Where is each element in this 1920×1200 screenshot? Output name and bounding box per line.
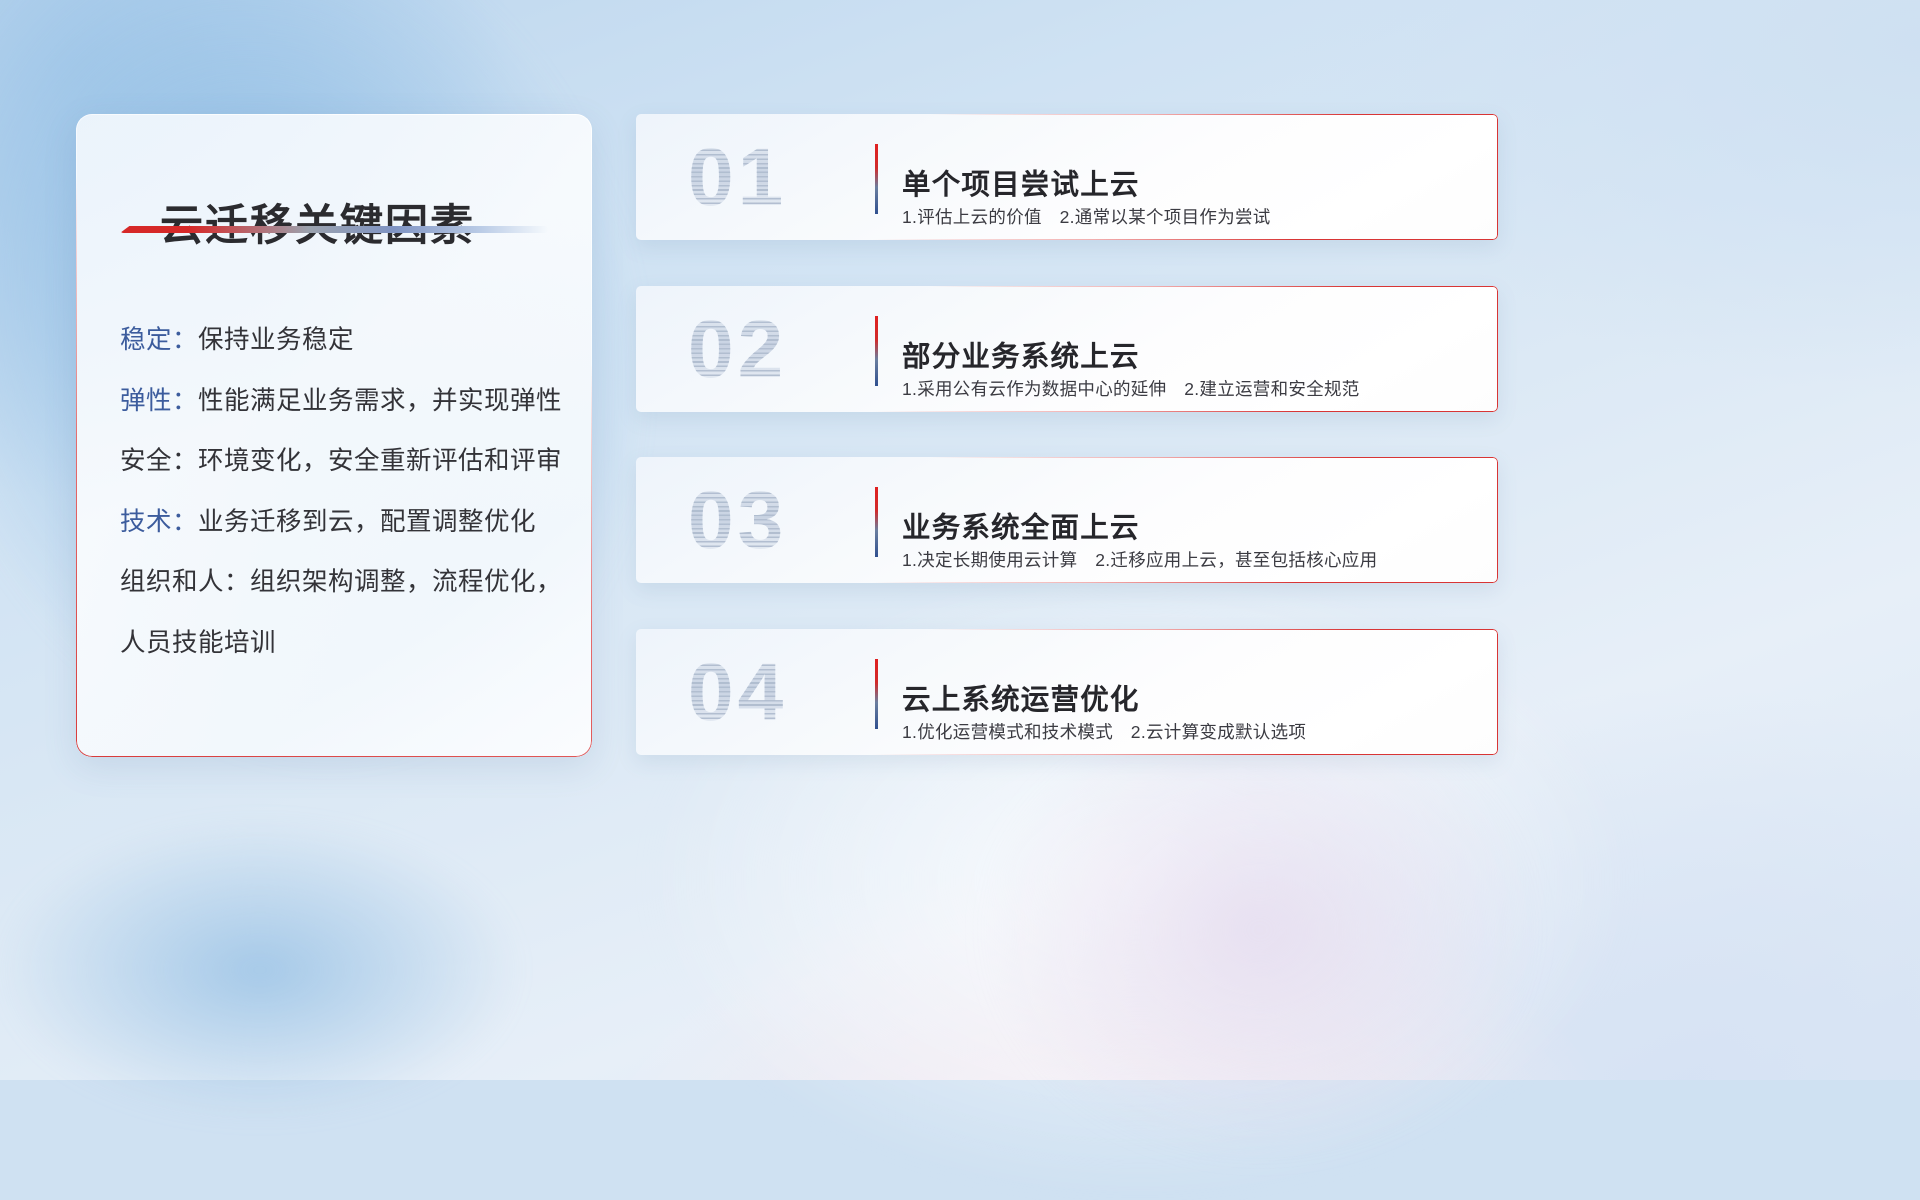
stage-card[interactable]: 01 单个项目尝试上云 1.评估上云的价值 2.通常以某个项目作为尝试 — [636, 114, 1498, 240]
list-item: 技术：业务迁移到云，配置调整优化 — [120, 492, 566, 553]
stage-card[interactable]: 04 云上系统运营优化 1.优化运营模式和技术模式 2.云计算变成默认选项 — [636, 629, 1498, 755]
card-accent-bar — [875, 144, 878, 214]
key-factors-panel: 云迁移关键因素 稳定：保持业务稳定 弹性：性能满足业务需求，并实现弹性 安全：环… — [76, 114, 592, 757]
list-item-text: 保持业务稳定 — [198, 326, 354, 354]
stage-card[interactable]: 02 部分业务系统上云 1.采用公有云作为数据中心的延伸 2.建立运营和安全规范 — [636, 286, 1498, 412]
list-item: 人员技能培训 — [120, 613, 566, 674]
stage-number: 03 — [688, 475, 848, 567]
list-item-label: 安全： — [120, 447, 198, 475]
key-factors-list: 稳定：保持业务稳定 弹性：性能满足业务需求，并实现弹性 安全：环境变化，安全重新… — [120, 310, 566, 673]
stage-number: 01 — [688, 132, 848, 224]
list-item-text: 环境变化，安全重新评估和评审 — [198, 447, 562, 475]
list-item: 安全：环境变化，安全重新评估和评审 — [120, 431, 566, 492]
list-item: 稳定：保持业务稳定 — [120, 310, 566, 371]
list-item-text: 组织架构调整，流程优化， — [250, 568, 562, 596]
stage-title: 部分业务系统上云 — [902, 334, 1140, 375]
title-underline-gradient — [120, 226, 548, 233]
stage-title: 云上系统运营优化 — [902, 677, 1140, 718]
list-item-label: 弹性： — [120, 387, 198, 415]
list-item-text: 业务迁移到云，配置调整优化 — [198, 508, 536, 536]
card-accent-bar — [875, 659, 878, 729]
stage-subtitle: 1.优化运营模式和技术模式 2.云计算变成默认选项 — [902, 719, 1306, 744]
stage-subtitle: 1.评估上云的价值 2.通常以某个项目作为尝试 — [902, 204, 1271, 229]
stage-number: 02 — [688, 304, 848, 396]
background-glow-bottom-left — [0, 820, 520, 1120]
page-title: 云迁移关键因素 — [160, 191, 475, 253]
list-item-text: 性能满足业务需求，并实现弹性 — [198, 387, 562, 415]
list-item: 组织和人：组织架构调整，流程优化， — [120, 552, 566, 613]
stage-subtitle: 1.决定长期使用云计算 2.迁移应用上云，甚至包括核心应用 — [902, 547, 1377, 572]
stage-subtitle: 1.采用公有云作为数据中心的延伸 2.建立运营和安全规范 — [902, 376, 1360, 401]
stage-title: 业务系统全面上云 — [902, 505, 1140, 546]
list-item: 弹性：性能满足业务需求，并实现弹性 — [120, 371, 566, 432]
list-item-text: 人员技能培训 — [120, 629, 276, 657]
list-item-label: 稳定： — [120, 326, 198, 354]
list-item-label: 技术： — [120, 508, 198, 536]
card-accent-bar — [875, 316, 878, 386]
background-glow-bottom-right — [980, 700, 1540, 1160]
stage-title: 单个项目尝试上云 — [902, 162, 1140, 203]
stage-number: 04 — [688, 647, 848, 739]
card-accent-bar — [875, 487, 878, 557]
stage-card[interactable]: 03 业务系统全面上云 1.决定长期使用云计算 2.迁移应用上云，甚至包括核心应… — [636, 457, 1498, 583]
list-item-label: 组织和人： — [120, 568, 250, 596]
